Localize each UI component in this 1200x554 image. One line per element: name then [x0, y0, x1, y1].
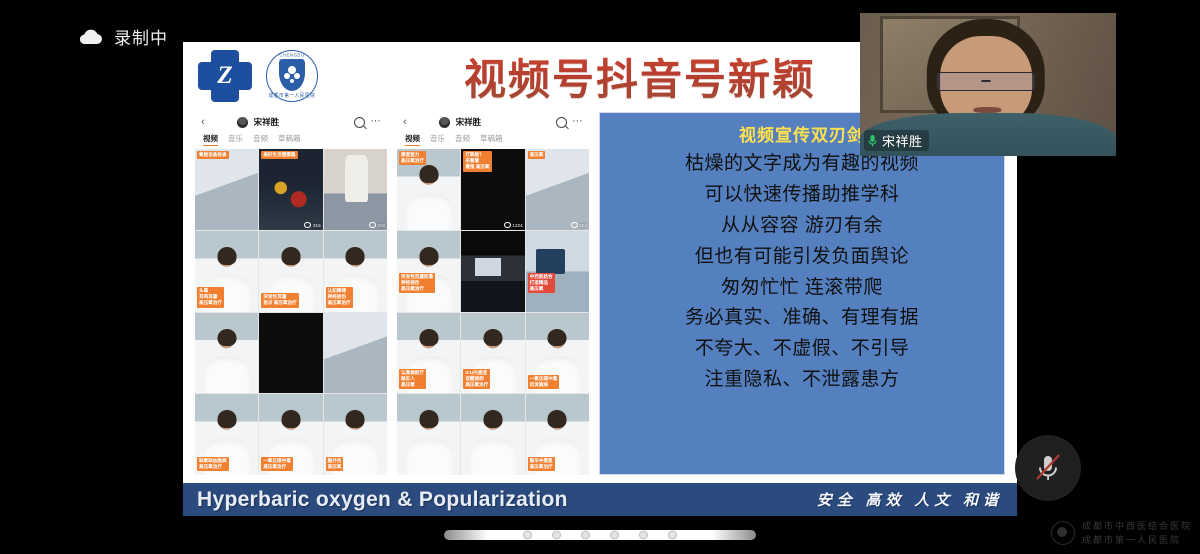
watermark-line-1: 成都市中西医结合医院: [1082, 519, 1192, 532]
video-thumbnail[interactable]: [259, 313, 322, 394]
phone-topbar: ‹ 宋祥胜 ⋯: [397, 112, 589, 132]
panel-line: 不夸大、不虚假、不引导: [695, 335, 910, 364]
watermark-line-2: 成都市第一人民医院: [1082, 533, 1192, 546]
thumbnail-caption: 认真做医疗 踏实人 高压氧: [399, 369, 426, 390]
eye-icon: [304, 222, 311, 227]
tab-audio[interactable]: 音频: [253, 133, 268, 146]
thumbnail-image: [195, 313, 258, 394]
video-thumbnail[interactable]: 头晕 耳鸣耳聋 高压氧治疗: [195, 231, 258, 312]
speaker-name-label: 宋祥胜: [882, 131, 923, 150]
video-thumbnail[interactable]: [461, 231, 524, 312]
progress-dot[interactable]: [668, 531, 677, 540]
thumbnail-image: [195, 149, 258, 230]
video-grid-left: 氧舱设备检查美好生活健康路316318头晕 耳鸣耳聋 高压氧治疗突发性耳聋 急诊…: [195, 149, 387, 475]
panel-line: 匆匆忙忙 连滚带爬: [721, 274, 883, 303]
avatar: [237, 117, 248, 128]
banner-english-text: Hyperbaric oxygen & Popularization: [197, 488, 568, 512]
video-thumbnail[interactable]: 脑外伤 高压氧: [324, 394, 387, 475]
thumbnail-image: [324, 149, 387, 230]
thumbnail-image: [461, 394, 524, 475]
video-thumbnail[interactable]: 高压氧504: [526, 149, 589, 230]
panel-line: 但也有可能引发负面舆论: [695, 243, 910, 272]
recording-indicator: 录制中: [78, 24, 168, 49]
cloud-icon: [78, 28, 104, 46]
video-thumbnail[interactable]: 318: [324, 149, 387, 230]
hospital-cross-logo-icon: Z 1869: [198, 50, 252, 102]
thumbnail-caption: 中西医结合 打造精品 高压氧: [528, 273, 555, 294]
eye-icon: [369, 222, 376, 227]
eye-icon: [571, 222, 578, 227]
thumbnail-caption: 美好生活健康路: [261, 151, 297, 159]
speaker-video-tile[interactable]: 宋祥胜: [860, 13, 1116, 156]
speaker-name-badge: 宋祥胜: [864, 130, 929, 151]
thumbnail-caption: 突发性耳聋 急诊 高压氧治疗: [261, 293, 298, 307]
thumbnail-caption: 脑外伤 高压氧: [326, 457, 344, 471]
tab-audio[interactable]: 音频: [455, 133, 470, 146]
thumbnail-image: [324, 313, 387, 394]
thumbnail-caption: 一氧化碳中毒 迟发脑病: [528, 375, 560, 389]
microphone-muted-icon[interactable]: [1015, 435, 1081, 501]
thumbnail-image: [259, 149, 322, 230]
video-thumbnail[interactable]: 突发性耳聋 急诊 高压氧治疗: [259, 231, 322, 312]
thumbnail-caption: 康复能力 高压氧治疗: [399, 151, 426, 165]
panel-heading: 视频宣传双刃剑: [739, 121, 865, 146]
meeting-stage: 录制中 Z 1869 CHENGDU PEOPLE'S HOSPITAL 成都市…: [0, 0, 1200, 554]
thumbnail-caption: 突发性耳聋眩晕 神经损伤 高压氧治疗: [399, 273, 435, 294]
video-thumbnail[interactable]: 中西医结合 打造精品 高压氧: [526, 231, 589, 312]
video-thumbnail[interactable]: 认知障碍 神经损伤 高压氧治疗: [324, 231, 387, 312]
tab-video[interactable]: 视频: [405, 133, 420, 146]
phone-tabs-left: 视频 音乐 音频 草稿箱: [195, 132, 387, 149]
search-icon[interactable]: [556, 117, 567, 128]
panel-line: 务必真实、准确、有理有据: [685, 304, 919, 333]
slide-footer-banner: Hyperbaric oxygen & Popularization 安全 高效…: [183, 483, 1017, 516]
recording-label: 录制中: [114, 24, 168, 49]
video-grid-right: 康复能力 高压氧治疗打氧舱？ 来看看 最强 高压氧1224高压氧504突发性耳聋…: [397, 149, 589, 475]
slide-body: ‹ 宋祥胜 ⋯ 视频 音乐 音频 草稿箱 氧舱设备检查美好生活健康路316318…: [183, 112, 1017, 475]
video-thumbnail[interactable]: 突发性耳聋眩晕 神经损伤 高压氧治疗: [397, 231, 460, 312]
thumbnail-image: [397, 231, 460, 312]
panel-line: 从从容容 游刃有余: [721, 212, 883, 241]
thumbnail-caption: 头晕 耳鸣耳聋 高压氧治疗: [197, 287, 224, 308]
thumbnail-caption: 脑卒中康复 高压氧治疗: [528, 457, 555, 471]
video-thumbnail[interactable]: 打氧舱？ 来看看 最强 高压氧1224: [461, 149, 524, 230]
video-thumbnail[interactable]: 康复能力 高压氧治疗: [397, 149, 460, 230]
panel-line: 注重隐私、不泄露患方: [704, 366, 899, 395]
thumbnail-image: [461, 231, 524, 312]
thumbnail-caption: 缺氧缺血脑病 高压氧治疗: [197, 457, 229, 471]
phone-tabs-right: 视频 音乐 音频 草稿箱: [397, 132, 589, 149]
progress-dots: [523, 531, 677, 540]
cross-logo-letter: Z: [206, 56, 244, 96]
seal-icon: [1051, 521, 1075, 545]
slide-text-panel: 视频宣传双刃剑 枯燥的文字成为有趣的视频 可以快速传播助推学科 从从容容 游刃有…: [599, 112, 1005, 475]
video-thumbnail[interactable]: 一氧化碳中毒 高压氧治疗: [259, 394, 322, 475]
progress-dot[interactable]: [581, 531, 590, 540]
thumbnail-caption: 认知障碍 神经损伤 高压氧治疗: [326, 287, 353, 308]
thumbnail-caption: 打氧舱？ 来看看 最强 高压氧: [463, 151, 491, 172]
thumbnail-caption: 一氧化碳中毒 高压氧治疗: [261, 457, 293, 471]
phone-account-name: 宋祥胜: [254, 116, 280, 128]
video-thumbnail[interactable]: [324, 313, 387, 394]
progress-dot[interactable]: [610, 531, 619, 540]
more-dots-icon[interactable]: ⋯: [573, 117, 584, 127]
view-count: 1224: [504, 222, 523, 227]
video-thumbnail[interactable]: [397, 394, 460, 475]
video-thumbnail[interactable]: ICU内昏迷 促醒病例 高压氧治疗: [461, 313, 524, 394]
cross-logo-year: 1869: [198, 95, 252, 104]
phone-topbar: ‹ 宋祥胜 ⋯: [195, 112, 387, 132]
thumbnail-image: [526, 149, 589, 230]
video-thumbnail[interactable]: [461, 394, 524, 475]
banner-chinese-text: 安全 高效 人文 和谐: [817, 489, 1003, 510]
tab-music[interactable]: 音乐: [228, 133, 243, 146]
tab-drafts[interactable]: 草稿箱: [278, 133, 301, 146]
phone-account-name: 宋祥胜: [456, 116, 482, 128]
progress-dot[interactable]: [639, 531, 648, 540]
phone-screenshot-right: ‹ 宋祥胜 ⋯ 视频 音乐 音频 草稿箱 康复能力 高压氧治疗打氧舱？ 来看看 …: [397, 112, 589, 475]
phone-screenshot-left: ‹ 宋祥胜 ⋯ 视频 音乐 音频 草稿箱 氧舱设备检查美好生活健康路316318…: [195, 112, 387, 475]
view-count: 504: [571, 222, 587, 227]
tab-music[interactable]: 音乐: [430, 133, 445, 146]
progress-dot[interactable]: [523, 531, 532, 540]
slide-progress-bar[interactable]: [444, 530, 756, 540]
panel-line: 可以快速传播助推学科: [704, 181, 899, 210]
back-chevron-icon[interactable]: ‹: [403, 117, 407, 128]
video-thumbnail[interactable]: 氧舱设备检查: [195, 149, 258, 230]
thumbnail-image: [526, 231, 589, 312]
eye-icon: [504, 222, 511, 227]
thumbnail-caption: 氧舱设备检查: [197, 151, 229, 159]
video-thumbnail[interactable]: 美好生活健康路316: [259, 149, 322, 230]
video-thumbnail[interactable]: 一氧化碳中毒 迟发脑病: [526, 313, 589, 394]
back-chevron-icon[interactable]: ‹: [201, 117, 205, 128]
video-thumbnail[interactable]: [195, 313, 258, 394]
avatar: [439, 117, 450, 128]
tab-video[interactable]: 视频: [203, 133, 218, 146]
thumbnail-image: [259, 313, 322, 394]
video-thumbnail[interactable]: 认真做医疗 踏实人 高压氧: [397, 313, 460, 394]
thumbnail-caption: ICU内昏迷 促醒病例 高压氧治疗: [463, 369, 490, 390]
hospital-watermark: 成都市中西医结合医院 成都市第一人民医院: [1051, 519, 1192, 546]
search-icon[interactable]: [354, 117, 365, 128]
video-thumbnail[interactable]: 脑卒中康复 高压氧治疗: [526, 394, 589, 475]
thumbnail-image: [397, 394, 460, 475]
view-count: 316: [304, 222, 320, 227]
glasses-icon: [936, 72, 1035, 91]
video-thumbnail[interactable]: 缺氧缺血脑病 高压氧治疗: [195, 394, 258, 475]
progress-dot[interactable]: [552, 531, 561, 540]
more-dots-icon[interactable]: ⋯: [371, 117, 382, 127]
thumbnail-caption: 高压氧: [528, 151, 546, 159]
view-count: 318: [369, 222, 385, 227]
tab-drafts[interactable]: 草稿箱: [480, 133, 503, 146]
microphone-icon: [867, 134, 878, 148]
